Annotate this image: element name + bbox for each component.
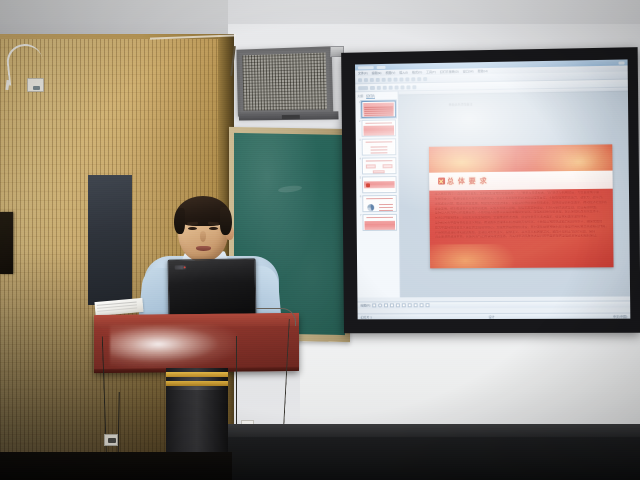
align-center-icon[interactable] — [401, 85, 405, 89]
drawing-toolbar[interactable]: 绘图(R) — [357, 300, 630, 308]
thumb-pie-chart-icon — [367, 204, 374, 211]
textbox-icon[interactable] — [396, 303, 400, 307]
laptop[interactable] — [168, 258, 257, 318]
thumb-number: 3 — [358, 139, 361, 143]
slide-body-text: 深入贯彻"两个一百年"奋斗目标，坚持和加强党的全面领导，"三"要求与总体部署，"… — [435, 191, 608, 261]
list-item[interactable]: 5 — [358, 176, 397, 193]
copy-icon[interactable] — [388, 77, 392, 81]
align-left-icon[interactable] — [395, 85, 399, 89]
slide-thumbnail-6[interactable] — [362, 195, 397, 212]
paste-icon[interactable] — [394, 77, 398, 81]
shadow-style-icon[interactable] — [420, 303, 424, 307]
thumb-legend-line — [379, 210, 393, 211]
status-design: 设计 — [489, 314, 495, 318]
fill-color-icon[interactable] — [408, 303, 412, 307]
thumb-red-panel — [364, 221, 395, 231]
list-item[interactable]: 3 — [358, 138, 397, 155]
ppt-status-bar: 幻灯片 1 设计 中文(中国) — [358, 313, 631, 320]
line-color-icon[interactable] — [414, 303, 418, 307]
cut-icon[interactable] — [382, 77, 386, 81]
window-controls[interactable] — [618, 61, 624, 64]
thumb-legend-line — [379, 204, 393, 205]
font-size-select[interactable] — [370, 85, 375, 89]
slide-title: 总 体 要 求 — [447, 176, 488, 186]
projection-screen: 文件(F) 编辑(E) 视图(V) 插入(I) 格式(O) 工具(T) 幻灯片放… — [341, 47, 640, 333]
powerpoint-window: 文件(F) 编辑(E) 视图(V) 插入(I) 格式(O) 工具(T) 幻灯片放… — [355, 59, 630, 319]
floor — [228, 437, 640, 480]
presenter-hair-left — [174, 208, 185, 234]
new-icon[interactable] — [358, 78, 362, 82]
status-slide-number: 幻灯片 1 — [361, 315, 372, 319]
print-icon[interactable] — [376, 77, 380, 81]
slide-thumbnail-5[interactable] — [362, 176, 397, 193]
bullets-icon[interactable] — [406, 85, 410, 89]
slide-edit-pane[interactable]: 单击此处添加备注 总 体 要 求 深入贯彻"两个一百年"奋斗目标，坚持和加强党的… — [399, 88, 630, 298]
italic-icon[interactable] — [383, 85, 387, 89]
thumb-box — [373, 170, 385, 173]
speaker-badge — [282, 115, 300, 119]
slide-thumbnail-1[interactable] — [361, 101, 396, 118]
list-item[interactable]: 1 — [357, 101, 396, 118]
thumb-line — [371, 146, 388, 147]
slide-body-line: 清正廉洁的政治本色，营造风清气正的良好政治生态，为实现中华民族伟大复兴的中国梦提… — [435, 234, 608, 239]
thumb-red-panel — [363, 125, 394, 135]
thumb-number: 1 — [357, 101, 360, 105]
list-item[interactable]: 7 — [359, 214, 398, 231]
thumb-number: 2 — [358, 120, 361, 124]
wall-outlet-upper — [27, 78, 44, 92]
presenter-trousers — [88, 175, 132, 305]
floor-left-shadow — [0, 452, 232, 480]
presenter-mouth — [196, 246, 211, 251]
tab-slides[interactable]: 幻灯片 — [366, 94, 375, 99]
underline-icon[interactable] — [389, 85, 393, 89]
ellipse-shape-icon[interactable] — [378, 303, 382, 307]
projection-surface: 文件(F) 编辑(E) 视图(V) 插入(I) 格式(O) 工具(T) 幻灯片放… — [355, 59, 630, 319]
presenter-nose — [200, 231, 206, 242]
chalk-smudge — [278, 185, 303, 194]
slide-title-band: 总 体 要 求 — [429, 170, 613, 190]
wall-outlet-left — [104, 434, 118, 446]
thumb-number: 6 — [358, 195, 361, 199]
tab-outline[interactable]: 大纲 — [357, 94, 363, 99]
save-icon[interactable] — [370, 78, 374, 82]
font-family-select[interactable] — [358, 86, 368, 90]
bold-icon[interactable] — [377, 85, 381, 89]
slide-thumbnail-4[interactable] — [362, 157, 397, 174]
list-item[interactable]: 4 — [358, 157, 397, 174]
slide-thumbnail-3[interactable] — [362, 138, 397, 155]
slide-thumbnail-7[interactable] — [362, 214, 397, 231]
slide-thumbnail-pane[interactable]: 大纲 幻灯片 1 2 — [355, 92, 400, 298]
current-slide[interactable]: 总 体 要 求 深入贯彻"两个一百年"奋斗目标，坚持和加强党的全面领导，"三"要… — [429, 144, 614, 268]
thumb-legend-line — [379, 207, 393, 208]
line-shape-icon[interactable] — [384, 303, 388, 307]
slide-thumbnail-2[interactable] — [361, 119, 396, 136]
back-wall-lower — [300, 330, 640, 430]
insert-table-icon[interactable] — [411, 77, 415, 81]
wordart-icon[interactable] — [402, 303, 406, 307]
thumb-number: 7 — [359, 214, 362, 217]
party-emblem-icon — [366, 183, 370, 187]
insert-chart-icon[interactable] — [417, 77, 421, 81]
presenter-hair-right — [220, 207, 232, 235]
ppt-workspace: 大纲 幻灯片 1 2 — [355, 88, 630, 298]
drawing-menu-label[interactable]: 绘图(R) — [360, 303, 370, 307]
thumb-line — [371, 152, 388, 153]
redo-icon[interactable] — [405, 77, 409, 81]
font-color-icon[interactable] — [412, 85, 416, 89]
baseboard — [228, 424, 640, 438]
speaker-grille-icon — [242, 53, 327, 111]
ppt-title-text — [358, 66, 374, 69]
notes-placeholder[interactable]: 单击此处添加备注 — [449, 103, 473, 107]
thumb-number: 5 — [358, 176, 361, 180]
laptop-sheen — [169, 259, 255, 283]
laptop-lid — [168, 258, 257, 318]
laptop-logo-icon — [175, 265, 187, 269]
arrow-shape-icon[interactable] — [390, 303, 394, 307]
lectern-specular-highlight — [110, 324, 237, 369]
list-item[interactable]: 6 — [358, 195, 397, 212]
thumb-box — [366, 164, 376, 168]
wall-recess — [0, 212, 13, 274]
lecture-hall-photo: 文件(F) 编辑(E) 视图(V) 插入(I) 格式(O) 工具(T) 幻灯片放… — [0, 0, 640, 480]
open-icon[interactable] — [364, 78, 368, 82]
ppt-title-chip — [377, 65, 386, 68]
zoom-select[interactable] — [423, 77, 427, 81]
list-item[interactable]: 2 — [358, 119, 397, 136]
thumb-box — [383, 164, 393, 168]
party-emblem-icon — [438, 178, 445, 185]
wall-speaker — [236, 46, 333, 116]
thumb-number: 4 — [358, 158, 361, 162]
undo-icon[interactable] — [399, 77, 403, 81]
rectangle-shape-icon[interactable] — [372, 303, 376, 307]
pane-tab-strip[interactable]: 大纲 幻灯片 — [357, 94, 395, 100]
status-language: 中文(中国) — [613, 314, 627, 318]
3d-style-icon[interactable] — [426, 303, 430, 307]
thumb-text-lines — [364, 106, 393, 116]
lectern-gold-band-lower — [166, 381, 228, 386]
lectern-gold-band-upper — [166, 372, 228, 377]
